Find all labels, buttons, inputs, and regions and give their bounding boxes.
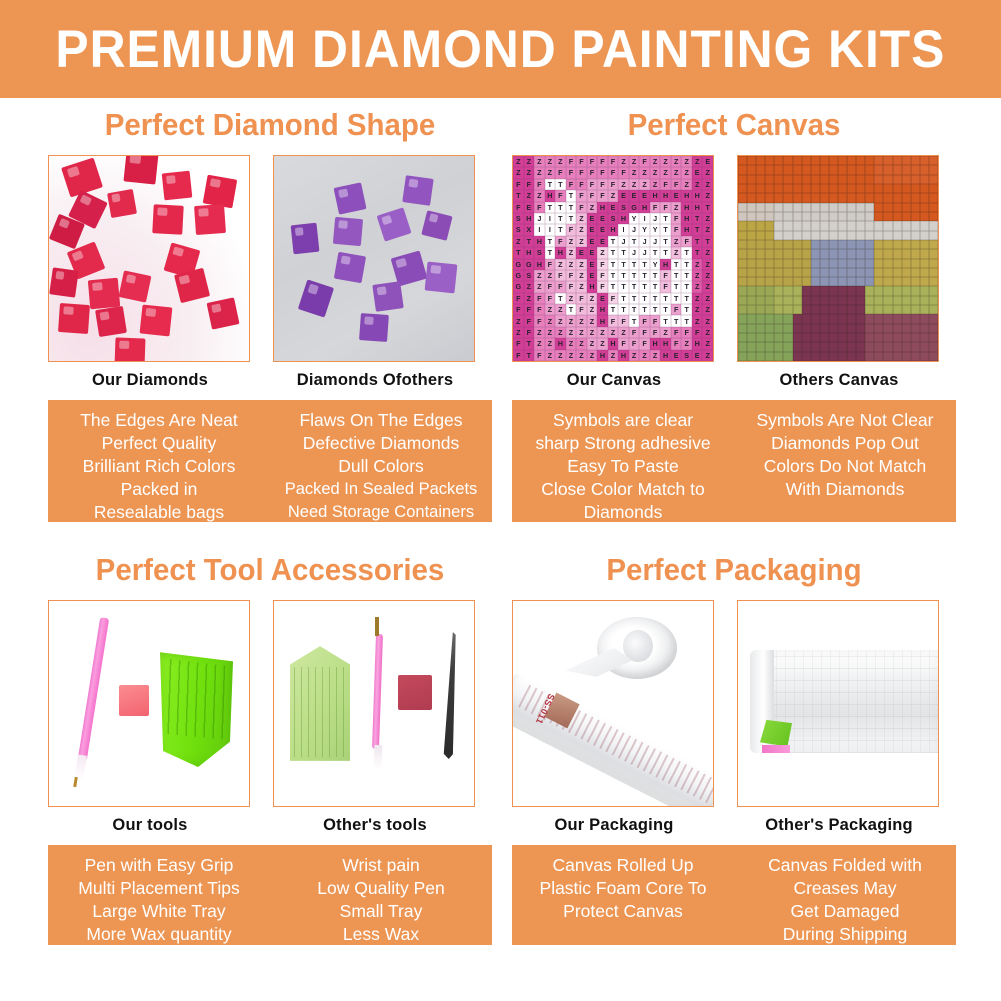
bullet-item: Protect Canvas: [516, 900, 730, 923]
canvas-cell: [911, 259, 920, 268]
canvas-cell: [838, 221, 847, 230]
canvas-cell: Z: [702, 281, 713, 292]
canvas-cell: [738, 231, 747, 240]
canvas-cell: [929, 259, 938, 268]
canvas-cell: Z: [671, 247, 682, 258]
canvas-cell: [747, 221, 756, 230]
canvas-cell: [911, 342, 920, 351]
canvas-cell: Z: [555, 304, 566, 315]
canvas-cell: [829, 305, 838, 314]
canvas-cell: [856, 352, 865, 361]
canvas-cell: [765, 277, 774, 286]
canvas-cell: Z: [555, 315, 566, 326]
canvas-cell: [920, 231, 929, 240]
bullets-ours: Canvas Rolled Up Plastic Foam Core To Pr…: [512, 854, 734, 935]
canvas-cell: [865, 231, 874, 240]
canvas-cell: [802, 333, 811, 342]
canvas-cell: [747, 324, 756, 333]
canvas-cell: Z: [513, 156, 524, 167]
canvas-cell: E: [597, 213, 608, 224]
canvas-cell: F: [566, 224, 577, 235]
canvas-cell: E: [692, 350, 703, 361]
canvas-cell: E: [597, 293, 608, 304]
canvas-cell: Z: [576, 338, 587, 349]
canvas-cell: Z: [671, 202, 682, 213]
canvas-cell: [883, 333, 892, 342]
canvas-cell: [847, 342, 856, 351]
canvas-cell: [820, 231, 829, 240]
canvas-cell: [802, 296, 811, 305]
canvas-cell: F: [639, 315, 650, 326]
canvas-cell: [911, 352, 920, 361]
canvas-cell: [829, 342, 838, 351]
canvas-cell: J: [639, 247, 650, 258]
figure-pair: Our Diamonds: [48, 155, 492, 390]
canvas-cell: H: [534, 259, 545, 270]
canvas-cell: [802, 268, 811, 277]
canvas-cell: Z: [639, 179, 650, 190]
canvas-cell: [783, 203, 792, 212]
canvas-cell: H: [618, 213, 629, 224]
canvas-cell: [820, 314, 829, 323]
canvas-cell: [874, 212, 883, 221]
canvas-cell: [883, 324, 892, 333]
canvas-cell: I: [545, 213, 556, 224]
canvas-cell: H: [660, 190, 671, 201]
canvas-cell: Z: [692, 179, 703, 190]
canvas-cell: [865, 184, 874, 193]
canvas-cell: Z: [692, 259, 703, 270]
canvas-cell: [856, 277, 865, 286]
canvas-cell: [802, 175, 811, 184]
canvas-cell: Z: [534, 281, 545, 292]
canvas-cell: [883, 175, 892, 184]
canvas-cell: [883, 314, 892, 323]
canvas-cell: [756, 324, 765, 333]
canvas-cell: X: [524, 224, 535, 235]
canvas-cell: [865, 249, 874, 258]
canvas-cell: [820, 165, 829, 174]
bullet-item: Close Color Match to: [516, 478, 730, 501]
canvas-cell: T: [660, 224, 671, 235]
canvas-cell: [847, 314, 856, 323]
canvas-cell: [765, 352, 774, 361]
canvas-cell: T: [650, 304, 661, 315]
canvas-cell: F: [671, 213, 682, 224]
canvas-cell: [847, 240, 856, 249]
canvas-cell: T: [650, 270, 661, 281]
canvas-cell: [783, 352, 792, 361]
canvas-cell: [929, 184, 938, 193]
canvas-cell: T: [629, 304, 640, 315]
canvas-cell: [893, 296, 902, 305]
canvas-cell: F: [534, 179, 545, 190]
canvas-cell: Z: [566, 236, 577, 247]
canvas-cell: Z: [545, 270, 556, 281]
canvas-cell: T: [681, 259, 692, 270]
canvas-cell: [874, 342, 883, 351]
canvas-cell: [738, 259, 747, 268]
canvas-cell: [783, 156, 792, 165]
figure-pair: SS-011 Our Packaging Other's Packaging: [512, 600, 956, 835]
canvas-cell: [829, 352, 838, 361]
canvas-cell: [893, 193, 902, 202]
canvas-cell: [811, 314, 820, 323]
canvas-cell: [865, 203, 874, 212]
canvas-cell: [902, 231, 911, 240]
canvas-cell: [874, 324, 883, 333]
canvas-cell: [765, 165, 774, 174]
bullet-item: Need Storage Containers: [274, 501, 488, 524]
canvas-cell: [738, 175, 747, 184]
bullet-item: Diamonds Pop Out: [738, 432, 952, 455]
canvas-cell: [838, 268, 847, 277]
canvas-cell: [756, 314, 765, 323]
canvas-cell: F: [534, 304, 545, 315]
canvas-cell: T: [702, 202, 713, 213]
canvas-cell: [902, 314, 911, 323]
canvas-cell: T: [629, 281, 640, 292]
pen-needle-icon: [73, 777, 78, 788]
bullet-item: Canvas Folded with: [738, 854, 952, 877]
canvas-cell: T: [639, 270, 650, 281]
canvas-cell: F: [524, 327, 535, 338]
caption-our-diamonds: Our Diamonds: [48, 371, 252, 390]
canvas-cell: [838, 314, 847, 323]
canvas-cell: E: [692, 167, 703, 178]
canvas-cell: F: [566, 270, 577, 281]
canvas-cell: [793, 352, 802, 361]
canvas-cell: F: [671, 304, 682, 315]
canvas-cell: [811, 240, 820, 249]
canvas-cell: [747, 231, 756, 240]
wax-icon: [398, 675, 432, 710]
figure-our-canvas: ZZZZZFFFFFZZFZZZZZEZZZZFFFFFFFZZZZZZEZFF…: [512, 155, 716, 390]
canvas-cell: T: [524, 338, 535, 349]
canvas-cell: [929, 296, 938, 305]
canvas-cell: [793, 314, 802, 323]
canvas-cell: T: [639, 304, 650, 315]
canvas-cell: [847, 193, 856, 202]
canvas-cell: [811, 277, 820, 286]
canvas-cell: T: [681, 304, 692, 315]
canvas-cell: [920, 333, 929, 342]
canvas-cell: [929, 165, 938, 174]
bullet-item: Get Damaged: [738, 900, 952, 923]
canvas-cell: Z: [513, 327, 524, 338]
canvas-cell: [856, 175, 865, 184]
canvas-cell: [929, 342, 938, 351]
canvas-cell: T: [650, 247, 661, 258]
canvas-cell: H: [545, 190, 556, 201]
canvas-cell: F: [629, 327, 640, 338]
canvas-cell: [929, 231, 938, 240]
canvas-cell: [820, 212, 829, 221]
canvas-cell: [738, 333, 747, 342]
image-other-packaging: [737, 600, 939, 807]
canvas-cell: [893, 314, 902, 323]
canvas-cell: [920, 314, 929, 323]
canvas-cell: [756, 342, 765, 351]
canvas-cell: H: [660, 259, 671, 270]
canvas-cell: E: [587, 259, 598, 270]
bullet-item: Dull Colors: [274, 455, 488, 478]
canvas-cell: F: [639, 156, 650, 167]
canvas-cell: [793, 286, 802, 295]
bullet-item: Perfect Quality: [52, 432, 266, 455]
canvas-cell: [902, 212, 911, 221]
canvas-cell: [783, 165, 792, 174]
canvas-cell: Z: [597, 247, 608, 258]
canvas-cell: [893, 259, 902, 268]
canvas-cell: E: [702, 156, 713, 167]
canvas-cell: T: [629, 293, 640, 304]
canvas-cell: [765, 212, 774, 221]
canvas-cell: [783, 184, 792, 193]
canvas-cell: F: [639, 327, 650, 338]
figure-pair: Our tools: [48, 600, 492, 835]
canvas-cell: [738, 305, 747, 314]
canvas-cell: [929, 193, 938, 202]
canvas-cell: [911, 277, 920, 286]
canvas-cell: [929, 277, 938, 286]
canvas-cell: [802, 277, 811, 286]
canvas-cell: [765, 333, 774, 342]
canvas-cell: [911, 231, 920, 240]
canvas-cell: T: [555, 202, 566, 213]
canvas-cell: [820, 175, 829, 184]
canvas-cell: T: [513, 247, 524, 258]
canvas-cell: [774, 240, 783, 249]
canvas-cell: [920, 324, 929, 333]
canvas-cell: [774, 212, 783, 221]
canvas-cell: F: [534, 315, 545, 326]
canvas-cell: [756, 184, 765, 193]
figure-our-diamonds: Our Diamonds: [48, 155, 252, 390]
canvas-cell: [920, 221, 929, 230]
canvas-cell: T: [555, 224, 566, 235]
canvas-cell: T: [671, 270, 682, 281]
canvas-cell: Z: [587, 327, 598, 338]
canvas-cell: Z: [681, 338, 692, 349]
canvas-cell: Z: [681, 156, 692, 167]
canvas-cell: F: [555, 281, 566, 292]
canvas-cell: H: [660, 338, 671, 349]
canvas-cell: [838, 156, 847, 165]
canvas-cell: [874, 156, 883, 165]
canvas-cell: [738, 296, 747, 305]
canvas-cell: [774, 175, 783, 184]
canvas-cell: Z: [587, 202, 598, 213]
canvas-cell: Z: [660, 156, 671, 167]
canvas-cell: [747, 193, 756, 202]
canvas-cell: Z: [650, 350, 661, 361]
canvas-cell: [756, 249, 765, 258]
canvas-cell: [738, 277, 747, 286]
canvas-cell: S: [524, 270, 535, 281]
canvas-cell: [874, 314, 883, 323]
canvas-cell: Z: [618, 156, 629, 167]
canvas-cell: [920, 286, 929, 295]
canvas-cell: Z: [597, 327, 608, 338]
canvas-cell: F: [587, 167, 598, 178]
canvas-cell: H: [608, 338, 619, 349]
canvas-cell: [756, 305, 765, 314]
canvas-cell: [783, 333, 792, 342]
canvas-cell: F: [576, 179, 587, 190]
canvas-cell: E: [587, 213, 598, 224]
canvas-cell: Z: [576, 281, 587, 292]
canvas-cell: [893, 305, 902, 314]
canvas-cell: [883, 184, 892, 193]
canvas-cell: Z: [587, 350, 598, 361]
canvas-cell: [738, 184, 747, 193]
canvas-cell: T: [681, 281, 692, 292]
canvas-cell: [811, 305, 820, 314]
canvas-cell: F: [545, 259, 556, 270]
canvas-cell: E: [639, 190, 650, 201]
canvas-cell: F: [513, 293, 524, 304]
canvas-cell: [820, 324, 829, 333]
bullet-item: Canvas Rolled Up: [516, 854, 730, 877]
pen-icon: [372, 634, 383, 749]
canvas-cell: [820, 296, 829, 305]
canvas-cell: [793, 342, 802, 351]
canvas-cell: [902, 221, 911, 230]
canvas-cell: [774, 165, 783, 174]
canvas-cell: [902, 249, 911, 258]
canvas-cell: F: [587, 179, 598, 190]
canvas-cell: G: [513, 281, 524, 292]
header-banner: PREMIUM DIAMOND PAINTING KITS: [0, 0, 1001, 98]
canvas-cell: [820, 352, 829, 361]
canvas-cell: T: [555, 179, 566, 190]
section-title-packaging: Perfect Packaging: [523, 552, 945, 588]
canvas-cell: [883, 352, 892, 361]
canvas-cell: [911, 165, 920, 174]
canvas-cell: [738, 212, 747, 221]
canvas-cell: [747, 342, 756, 351]
canvas-cell: T: [692, 236, 703, 247]
canvas-cell: [811, 342, 820, 351]
canvas-cell: F: [608, 179, 619, 190]
canvas-cell: [883, 342, 892, 351]
canvas-cell: [738, 156, 747, 165]
canvas-cell: [847, 165, 856, 174]
canvas-cell: [820, 193, 829, 202]
bullets-others: Canvas Folded with Creases May Get Damag…: [734, 854, 956, 935]
canvas-cell: Y: [650, 224, 661, 235]
canvas-cell: [838, 333, 847, 342]
canvas-cell: F: [555, 167, 566, 178]
canvas-cell: [847, 324, 856, 333]
canvas-cell: [838, 324, 847, 333]
bullet-item: Brilliant Rich Colors: [52, 455, 266, 478]
canvas-cell: [793, 240, 802, 249]
canvas-cell: [747, 333, 756, 342]
canvas-cell: Z: [702, 270, 713, 281]
canvas-cell: [820, 240, 829, 249]
canvas-cell: [893, 231, 902, 240]
figure-others-canvas: Others Canvas: [737, 155, 941, 390]
canvas-cell: [847, 296, 856, 305]
canvas-cell: [893, 342, 902, 351]
section-diamond-shape: Perfect Diamond Shape: [48, 107, 492, 522]
canvas-cell: T: [671, 281, 682, 292]
canvas-cell: [783, 221, 792, 230]
canvas-cell: [856, 156, 865, 165]
canvas-cell: [811, 352, 820, 361]
canvas-cell: Z: [692, 304, 703, 315]
canvas-cell: Z: [681, 167, 692, 178]
figure-other-diamonds: Diamonds Ofothers: [273, 155, 477, 390]
canvas-cell: F: [660, 281, 671, 292]
canvas-cell: [893, 221, 902, 230]
canvas-cell: [811, 193, 820, 202]
canvas-cell: [747, 156, 756, 165]
section-tools: Perfect Tool Accessories: [48, 552, 492, 945]
canvas-cell: I: [618, 224, 629, 235]
bullet-item: Symbols Are Not Clear: [738, 409, 952, 432]
canvas-cell: [765, 231, 774, 240]
canvas-cell: [893, 352, 902, 361]
bullet-item: With Diamonds: [738, 478, 952, 501]
canvas-cell: T: [692, 247, 703, 258]
canvas-cell: T: [671, 315, 682, 326]
canvas-cell: Z: [660, 167, 671, 178]
canvas-cell: E: [671, 190, 682, 201]
canvas-cell: [811, 259, 820, 268]
canvas-cell: F: [566, 179, 577, 190]
canvas-cell: [902, 193, 911, 202]
canvas-cell: Z: [576, 224, 587, 235]
canvas-cell: G: [524, 259, 535, 270]
canvas-cell: [920, 193, 929, 202]
canvas-cell: [802, 324, 811, 333]
bullets-ours: The Edges Are Neat Perfect Quality Brill…: [48, 409, 270, 512]
canvas-cell: [856, 342, 865, 351]
canvas-cell: F: [671, 179, 682, 190]
canvas-cell: T: [545, 179, 556, 190]
canvas-cell: Z: [587, 315, 598, 326]
canvas-cell: [774, 342, 783, 351]
canvas-cell: [783, 231, 792, 240]
canvas-cell: [902, 268, 911, 277]
canvas-cell: [847, 184, 856, 193]
canvas-cell: Z: [618, 179, 629, 190]
canvas-cell: F: [608, 156, 619, 167]
canvas-cell: T: [618, 293, 629, 304]
canvas-cell: [793, 268, 802, 277]
canvas-cell: [765, 221, 774, 230]
canvas-cell: E: [576, 247, 587, 258]
canvas-cell: [793, 156, 802, 165]
canvas-cell: [747, 249, 756, 258]
canvas-cell: [911, 268, 920, 277]
canvas-cell: Z: [545, 327, 556, 338]
canvas-cell: [847, 249, 856, 258]
canvas-cell: [756, 286, 765, 295]
canvas-cell: [847, 305, 856, 314]
canvas-cell: [856, 314, 865, 323]
canvas-cell: Z: [671, 236, 682, 247]
canvas-cell: [756, 212, 765, 221]
canvas-cell: [820, 156, 829, 165]
canvas-cell: F: [555, 190, 566, 201]
canvas-cell: Z: [629, 167, 640, 178]
canvas-cell: [847, 277, 856, 286]
bullets-others: Flaws On The Edges Defective Diamonds Du…: [270, 409, 492, 512]
